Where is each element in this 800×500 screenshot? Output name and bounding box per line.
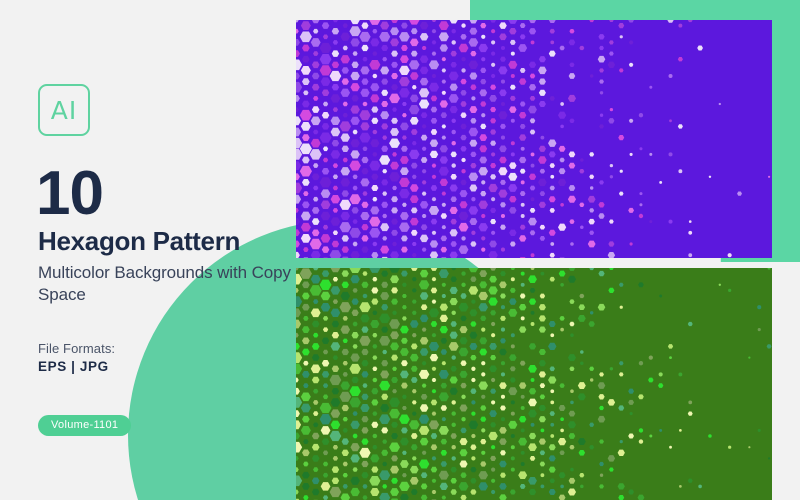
- hexagon-grid: [296, 268, 772, 500]
- page-subtitle: Multicolor Backgrounds with Copy Space: [38, 262, 298, 306]
- info-column: AI 10 Hexagon Pattern Multicolor Backgro…: [38, 0, 288, 500]
- ai-format-badge-label: AI: [51, 98, 77, 123]
- green-hexagon-pattern-panel: [296, 268, 772, 500]
- purple-hexagon-pattern-panel: [296, 20, 772, 258]
- volume-badge: Volume-1101: [38, 415, 131, 436]
- poster-canvas: AI 10 Hexagon Pattern Multicolor Backgro…: [0, 0, 800, 500]
- volume-badge-label: Volume-1101: [51, 420, 118, 431]
- page-title: Hexagon Pattern: [38, 228, 240, 254]
- hexagon-grid: [296, 20, 772, 258]
- ai-format-badge: AI: [38, 84, 90, 136]
- file-formats-label: File Formats:: [38, 341, 115, 356]
- file-formats-value: EPS | JPG: [38, 359, 109, 374]
- item-count: 10: [36, 163, 103, 225]
